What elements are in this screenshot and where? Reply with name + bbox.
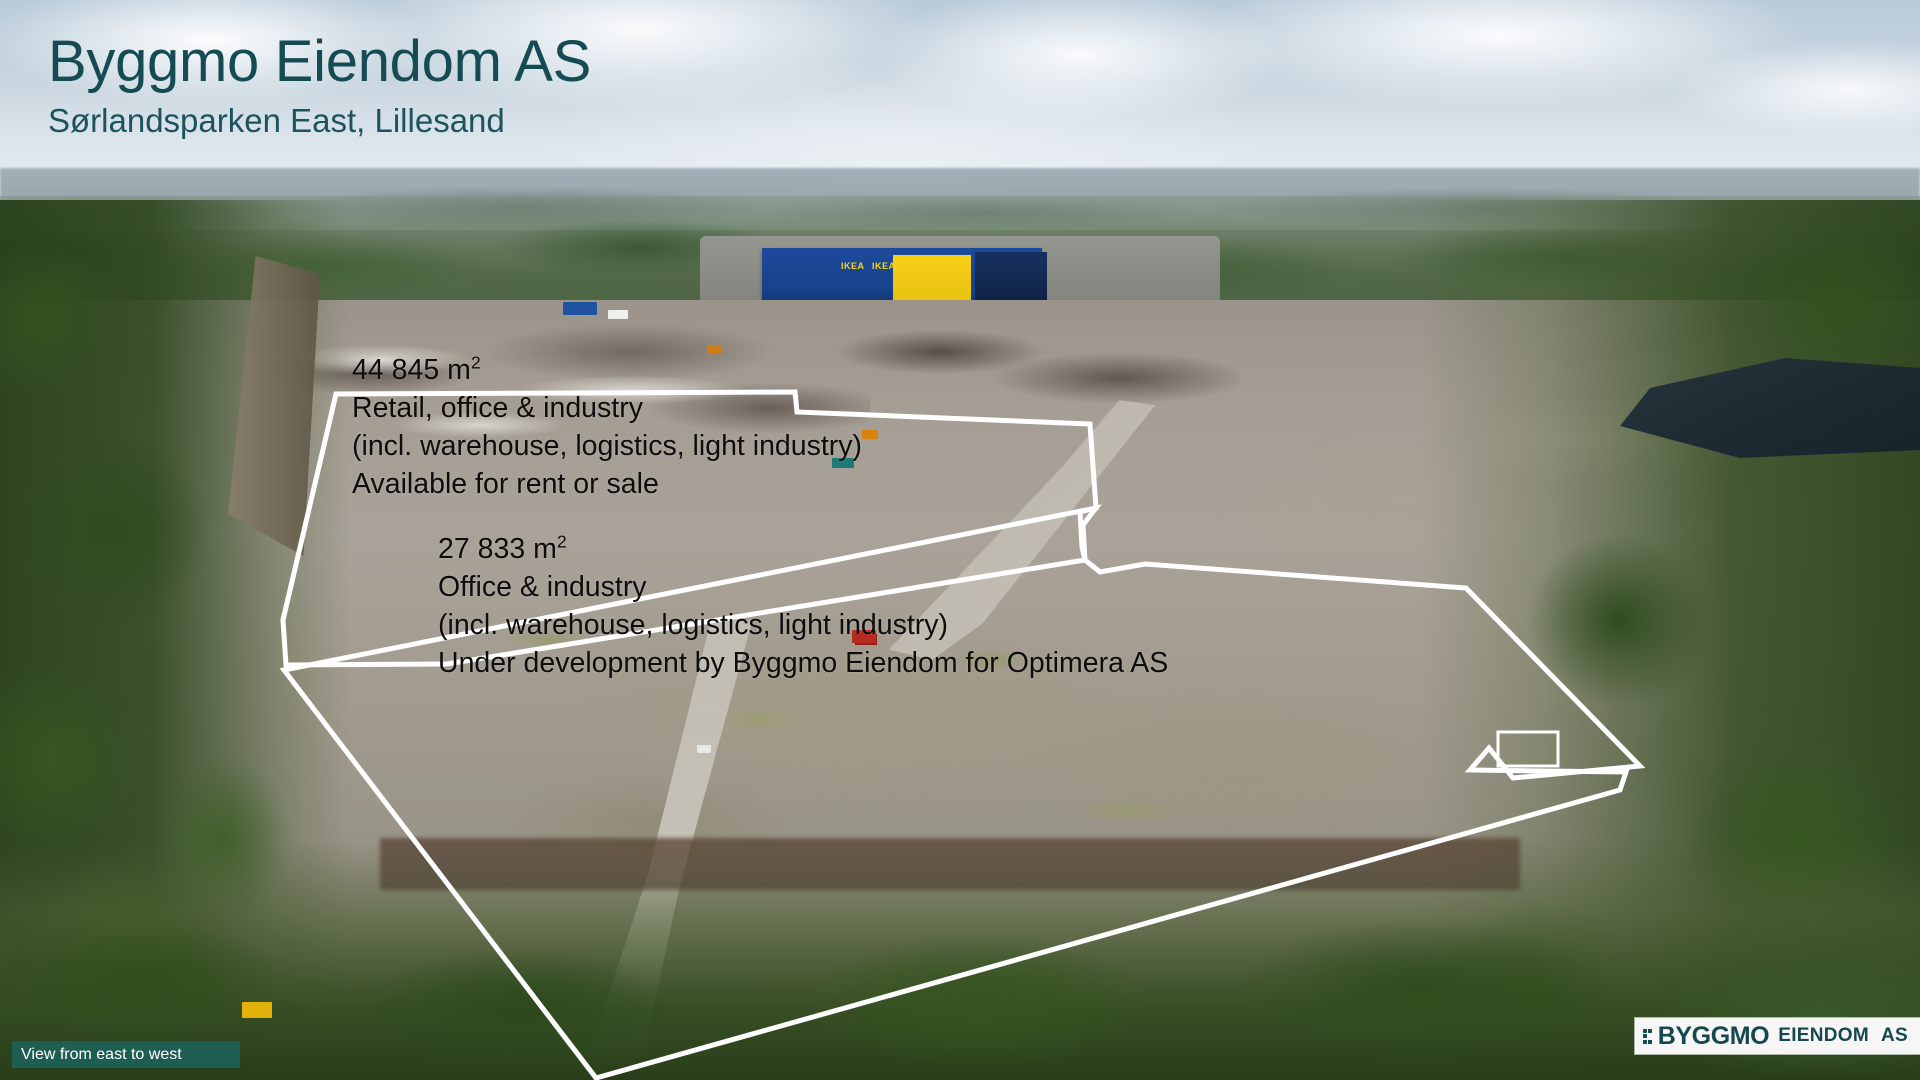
slide-canvas: IKEA IKEA Byggmo Eiendom AS Sø — [0, 0, 1920, 1080]
parcel-2-use: Office & industry — [438, 569, 1168, 607]
ikea-sign-left: IKEA — [841, 261, 865, 271]
parcel-2-annotation: 27 833 m2 Office & industry (incl. wareh… — [438, 531, 1168, 683]
parcel-2-area-value: 27 833 m — [438, 533, 557, 565]
ikea-entrance — [893, 255, 971, 305]
page-title: Byggmo Eiendom AS — [48, 32, 591, 93]
yellow-machine — [242, 1002, 272, 1018]
parcel-2-detail: (incl. warehouse, logistics, light indus… — [438, 607, 1168, 645]
white-car — [697, 745, 711, 753]
parcel-1-use: Retail, office & industry — [352, 390, 862, 428]
parcel-1-area: 44 845 m2 — [352, 352, 862, 390]
parcel-1-detail: (incl. warehouse, logistics, light indus… — [352, 428, 862, 466]
parcel-1-annotation: 44 845 m2 Retail, office & industry (inc… — [352, 352, 862, 504]
logo-brand-byggmo: BYGGMO — [1658, 1022, 1770, 1051]
ikea-annex — [975, 252, 1047, 302]
logo-word-as: AS — [1881, 1025, 1908, 1047]
parcel-2-status: Under development by Byggmo Eiendom for … — [438, 645, 1168, 683]
blue-container — [563, 302, 597, 315]
orange-excavator — [862, 430, 878, 439]
parcel-1-area-exponent: 2 — [471, 353, 481, 373]
parcel-1-area-value: 44 845 m — [352, 354, 471, 386]
photo-caption-band: View from east to west — [12, 1041, 240, 1068]
photo-caption-text: View from east to west — [12, 1046, 182, 1064]
byggmo-logo: BYGGMO EIENDOM AS — [1635, 1018, 1920, 1054]
spoil-heaps — [820, 312, 1240, 432]
ikea-sign-right: IKEA — [872, 261, 896, 271]
soil-embankment — [380, 838, 1520, 890]
parcel-2-area-exponent: 2 — [557, 532, 567, 552]
parcel-1-status: Available for rent or sale — [352, 466, 862, 504]
page-subtitle: Sørlandsparken East, Lillesand — [48, 101, 591, 141]
dotted-square-icon — [1643, 1029, 1656, 1044]
parcel-2-area: 27 833 m2 — [438, 531, 1168, 569]
white-container — [608, 310, 628, 319]
slide-header: Byggmo Eiendom AS Sørlandsparken East, L… — [48, 32, 591, 140]
logo-word-eiendom: EIENDOM — [1778, 1025, 1869, 1047]
